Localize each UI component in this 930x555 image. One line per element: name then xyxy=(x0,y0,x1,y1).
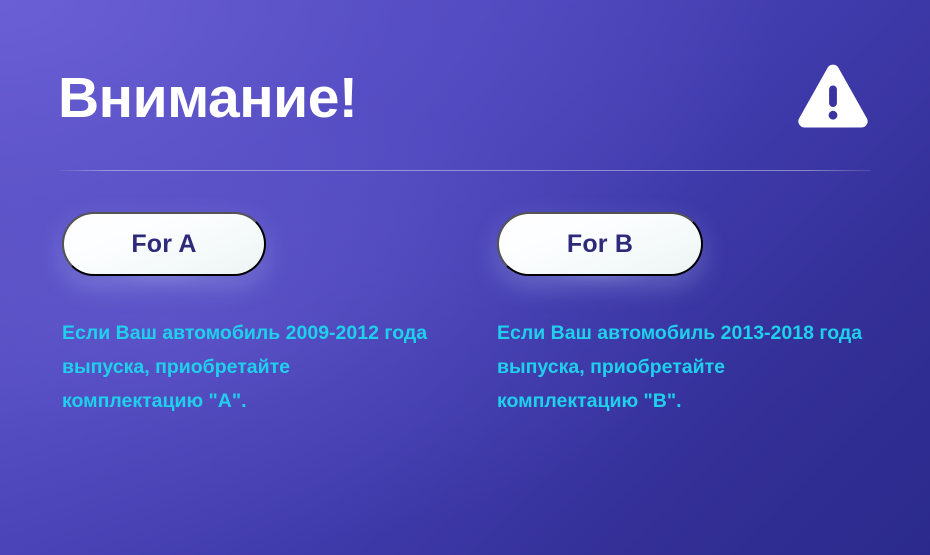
for-a-button[interactable]: For A xyxy=(62,212,266,276)
for-a-button-wrap: For A xyxy=(62,212,266,276)
page-title: Внимание! xyxy=(58,70,357,127)
attention-banner: Внимание! For A Если Ваш автомобиль 2009… xyxy=(0,0,930,555)
for-b-button-wrap: For B xyxy=(497,212,703,276)
option-a-description: Если Ваш автомобиль 2009-2012 года выпус… xyxy=(62,316,435,418)
option-column-b: For B Если Ваш автомобиль 2013-2018 года… xyxy=(435,212,870,438)
option-column-a: For A Если Ваш автомобиль 2009-2012 года… xyxy=(0,212,435,438)
options-row: For A Если Ваш автомобиль 2009-2012 года… xyxy=(0,212,930,438)
option-b-description: Если Ваш автомобиль 2013-2018 года выпус… xyxy=(497,316,870,418)
banner-header: Внимание! xyxy=(58,52,872,144)
warning-triangle-icon xyxy=(796,61,870,135)
for-b-button[interactable]: For B xyxy=(497,212,703,276)
header-divider xyxy=(59,170,871,171)
